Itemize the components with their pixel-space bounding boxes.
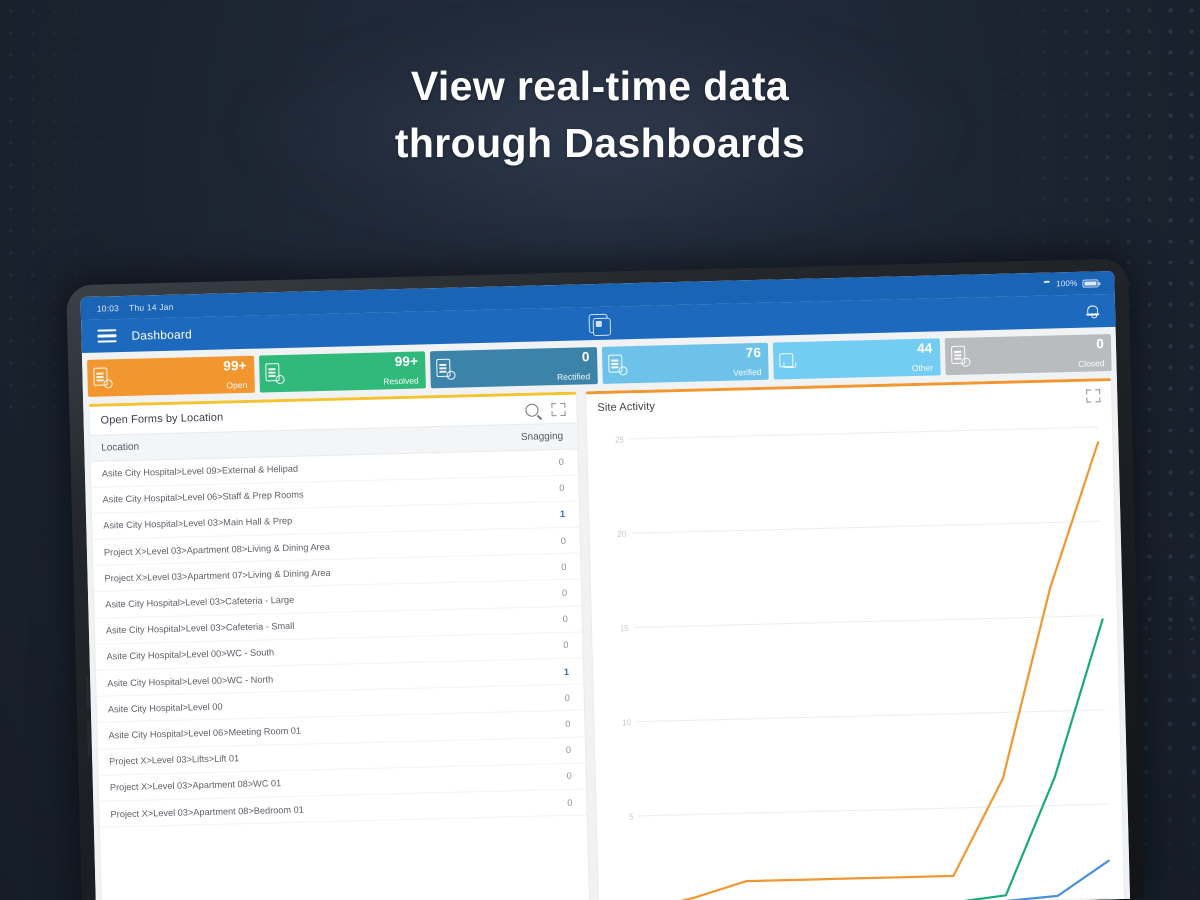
battery-percent: 100%: [1056, 279, 1077, 289]
open-forms-panel: Open Forms by Location Location Snagging…: [89, 392, 589, 900]
kpi-label: Other: [912, 362, 934, 373]
status-time: 10:03: [97, 303, 120, 314]
site-activity-title: Site Activity: [597, 401, 655, 414]
bell-icon[interactable]: [1086, 304, 1099, 318]
chart-series-verified: [642, 860, 1109, 900]
row-location: Project X>Level 03>Apartment 08>WC 01: [110, 778, 292, 793]
row-snagging-count: 1: [560, 509, 565, 519]
kpi-card-verified[interactable]: 76Verified: [601, 343, 768, 384]
row-snagging-count: 0: [565, 693, 570, 703]
kpi-card-rectified[interactable]: 0Rectified: [430, 347, 597, 388]
expand-icon[interactable]: [551, 402, 565, 415]
grid-line: [629, 427, 1098, 439]
row-snagging-count: 1: [564, 666, 569, 676]
row-location: Asite City Hospital>Level 09>External & …: [102, 463, 308, 478]
kpi-value: 0: [582, 349, 590, 364]
form-resolved-icon: [265, 363, 285, 384]
headline-line-1: View real-time data: [0, 58, 1200, 115]
tray-other-icon: [779, 350, 799, 371]
row-snagging-count: 0: [559, 457, 564, 467]
dashboard-panels: Open Forms by Location Location Snagging…: [83, 378, 1130, 900]
row-snagging-count: 0: [562, 588, 567, 598]
form-verified-icon: [608, 354, 628, 375]
row-snagging-count: 0: [567, 797, 572, 807]
row-location: Asite City Hospital>Level 03>Main Hall &…: [103, 516, 302, 531]
row-location: Asite City Hospital>Level 00: [108, 701, 233, 714]
row-location: Project X>Level 03>Lifts>Lift 01: [109, 753, 249, 767]
y-axis-tick-label: 25: [615, 435, 624, 445]
grid-line: [634, 615, 1103, 627]
form-open-icon: [93, 367, 113, 388]
chart-series-open: [632, 442, 1110, 900]
row-location: Asite City Hospital>Level 06>Staff & Pre…: [102, 490, 313, 505]
row-location: Project X>Level 03>Apartment 08>Living &…: [104, 541, 340, 557]
kpi-label: Resolved: [383, 375, 419, 386]
wifi-icon: [1042, 281, 1051, 288]
grid-line: [632, 521, 1101, 533]
kpi-card-open[interactable]: 99+Open: [87, 356, 254, 397]
kpi-value: 0: [1096, 336, 1104, 351]
search-icon[interactable]: [525, 403, 538, 416]
row-location: Asite City Hospital>Level 03>Cafeteria -…: [105, 595, 304, 610]
row-snagging-count: 0: [566, 771, 571, 781]
row-location: Project X>Level 03>Apartment 07>Living &…: [104, 567, 340, 583]
kpi-card-other[interactable]: 44Other: [773, 338, 940, 379]
hamburger-menu-icon[interactable]: [97, 329, 116, 343]
row-location: Asite City Hospital>Level 03>Cafeteria -…: [106, 621, 305, 636]
kpi-label: Verified: [733, 366, 762, 377]
expand-icon[interactable]: [1086, 389, 1100, 402]
column-header-location: Location: [101, 441, 139, 453]
line-chart: 0510152025: [595, 413, 1116, 900]
row-snagging-count: 0: [559, 483, 564, 493]
row-snagging-count: 0: [561, 536, 566, 546]
column-header-snagging: Snagging: [521, 430, 564, 442]
grid-line: [639, 804, 1108, 816]
headline-line-2: through Dashboards: [0, 115, 1200, 172]
status-date: Thu 14 Jan: [129, 301, 174, 312]
y-axis-tick-label: 10: [622, 718, 631, 728]
kpi-value: 76: [745, 345, 761, 360]
site-activity-panel: Site Activity 0510152025: [586, 378, 1124, 900]
form-closed-icon: [950, 346, 970, 367]
row-location: Project X>Level 03>Apartment 08>Bedroom …: [110, 804, 314, 819]
row-snagging-count: 0: [565, 719, 570, 729]
y-axis-tick-label: 15: [620, 623, 629, 633]
cube-app-icon: [589, 314, 608, 333]
open-forms-table-body: Asite City Hospital>Level 09>External & …: [91, 449, 587, 828]
kpi-label: Closed: [1078, 358, 1105, 369]
kpi-value: 99+: [223, 358, 247, 374]
site-activity-chart: 0510152025: [587, 409, 1124, 900]
chart-series-resolved: [636, 619, 1109, 900]
kpi-value: 99+: [395, 354, 419, 370]
kpi-value: 44: [917, 341, 933, 356]
row-location: Asite City Hospital>Level 06>Meeting Roo…: [108, 725, 311, 740]
tablet-device: 10:03 Thu 14 Jan 100% Dashboard 99+Open9…: [66, 259, 1144, 900]
tablet-screen: 10:03 Thu 14 Jan 100% Dashboard 99+Open9…: [80, 271, 1130, 900]
promo-headline: View real-time data through Dashboards: [0, 58, 1200, 172]
kpi-label: Open: [226, 379, 247, 390]
row-snagging-count: 0: [563, 640, 568, 650]
battery-icon: [1082, 279, 1098, 287]
kpi-label: Rectified: [557, 371, 590, 382]
row-snagging-count: 0: [561, 562, 566, 572]
grid-line: [636, 709, 1105, 721]
form-rectified-icon: [436, 359, 456, 380]
row-location: Asite City Hospital>Level 00>WC - South: [106, 647, 284, 661]
kpi-card-closed[interactable]: 0Closed: [944, 334, 1111, 375]
open-forms-title: Open Forms by Location: [100, 412, 223, 427]
y-axis-tick-label: 5: [629, 812, 634, 821]
row-location: Asite City Hospital>Level 00>WC - North: [107, 674, 283, 688]
row-snagging-count: 0: [563, 614, 568, 624]
tablet-bezel: 10:03 Thu 14 Jan 100% Dashboard 99+Open9…: [66, 259, 1144, 900]
app-logo-button[interactable]: [589, 314, 608, 333]
y-axis-tick-label: 20: [617, 529, 626, 539]
row-snagging-count: 0: [566, 745, 571, 755]
kpi-card-resolved[interactable]: 99+Resolved: [259, 351, 426, 392]
page-title: Dashboard: [131, 327, 192, 343]
